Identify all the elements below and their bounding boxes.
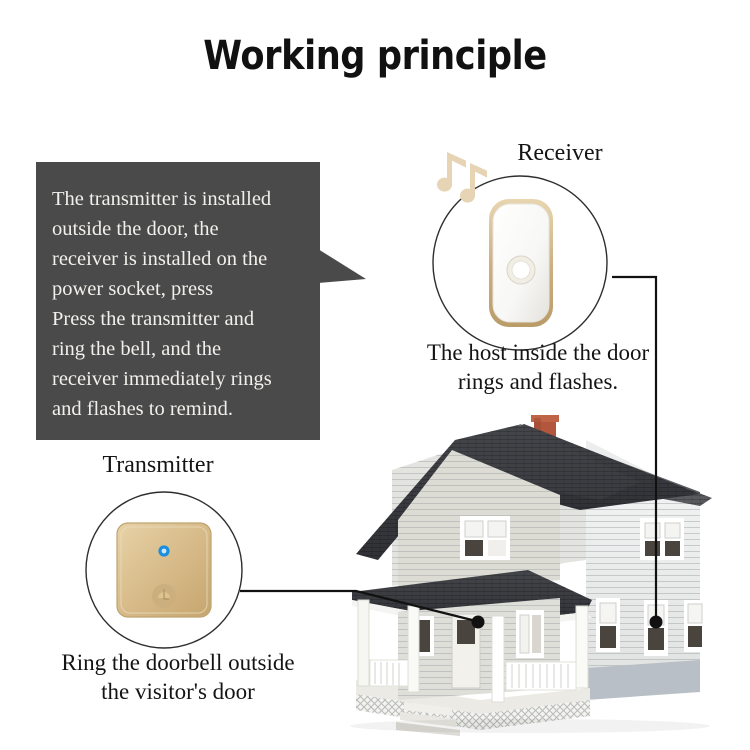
transmitter-label: Transmitter bbox=[58, 452, 258, 479]
window-right-lower-c bbox=[684, 600, 706, 652]
house-illustration bbox=[350, 415, 712, 736]
description-callout-box: The transmitter is installed outside the… bbox=[36, 162, 320, 440]
receiver-label: Receiver bbox=[470, 140, 650, 167]
porch-railing-right bbox=[506, 662, 576, 690]
window-right-lower-a bbox=[596, 598, 620, 652]
porch-window-right bbox=[516, 610, 544, 658]
window-gable bbox=[460, 516, 510, 560]
description-callout-text: The transmitter is installed outside the… bbox=[52, 184, 320, 424]
porch-railing-left bbox=[370, 660, 408, 686]
transmitter-caption: Ring the doorbell outside the visitor's … bbox=[28, 648, 328, 706]
transmitter-device bbox=[117, 523, 211, 617]
receiver-caption: The host inside the door rings and flash… bbox=[398, 338, 678, 396]
receiver-device bbox=[489, 199, 553, 327]
window-right-upper bbox=[640, 518, 684, 560]
working-principle-infographic: Working principle bbox=[0, 0, 750, 750]
callout-tail bbox=[318, 249, 366, 283]
